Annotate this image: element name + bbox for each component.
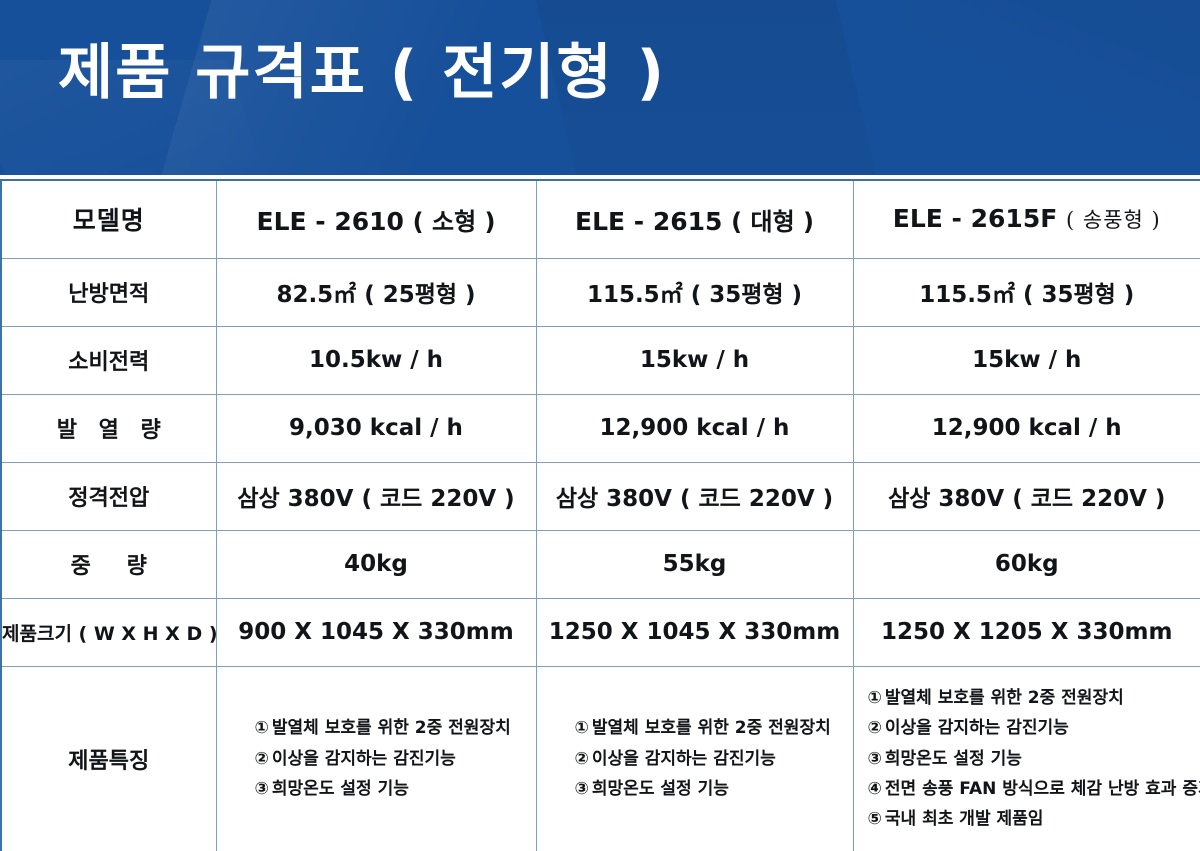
model-suffix-songpunghyeong: ( 송풍형 ) (1066, 208, 1161, 232)
feature-text: 이상을 감지하는 감진기능 (885, 718, 1069, 738)
table-row-weight: 중 량 40kg 55kg 60kg (1, 530, 1200, 598)
cell-rated-voltage-ele-2615: 삼상 380V ( 코드 220V ) (536, 462, 853, 530)
banner-chevron-shade-3 (821, 0, 1200, 175)
feature-number: ① (575, 718, 589, 738)
list-item: ①발열체 보호를 위한 2중 전원장치 (255, 713, 526, 743)
table-header-row: 모델명 ELE - 2610 ( 소형 ) ELE - 2615 ( 대형 ) … (1, 180, 1200, 258)
cell-rated-voltage-ele-2615f: 삼상 380V ( 코드 220V ) (853, 462, 1200, 530)
feature-text: 이상을 감지하는 감진기능 (592, 749, 776, 769)
feature-number: ② (868, 718, 882, 738)
row-label-weight: 중 량 (1, 530, 216, 598)
table-row-heat-output: 발 열 량 9,030 kcal / h 12,900 kcal / h 12,… (1, 394, 1200, 462)
feature-text: 이상을 감지하는 감진기능 (272, 749, 456, 769)
list-item: ③희망온도 설정 기능 (255, 774, 526, 804)
list-item: ⑤국내 최초 개발 제품임 (868, 804, 1191, 834)
feature-list-ele-2615: ①발열체 보호를 위한 2중 전원장치 ②이상을 감지하는 감진기능 ③희망온도… (575, 713, 843, 804)
table-row-features: 제품특징 ①발열체 보호를 위한 2중 전원장치 ②이상을 감지하는 감진기능 … (1, 666, 1200, 851)
row-label-heat-output: 발 열 량 (1, 394, 216, 462)
feature-number: ⑤ (868, 809, 882, 829)
cell-heat-output-ele-2615f: 12,900 kcal / h (853, 394, 1200, 462)
cell-weight-ele-2615f: 60kg (853, 530, 1200, 598)
cell-power-consumption-ele-2615: 15kw / h (536, 326, 853, 394)
list-item: ④전면 송풍 FAN 방식으로 체감 난방 효과 증가 (868, 774, 1191, 804)
cell-heating-area-ele-2610: 82.5㎡ ( 25평형 ) (216, 258, 536, 326)
feature-text: 희망온도 설정 기능 (272, 779, 409, 799)
table-row-power-consumption: 소비전력 10.5kw / h 15kw / h 15kw / h (1, 326, 1200, 394)
title-banner: 제품 규격표 ( 전기형 ) (0, 0, 1200, 175)
list-item: ①발열체 보호를 위한 2중 전원장치 (868, 683, 1191, 713)
page-title: 제품 규격표 ( 전기형 ) (58, 40, 666, 106)
row-label-power-consumption: 소비전력 (1, 326, 216, 394)
model-suffix-daehyeong: ( 대형 ) (731, 208, 814, 236)
model-name-ele-2615f: ELE - 2615F (893, 204, 1058, 233)
cell-heat-output-ele-2610: 9,030 kcal / h (216, 394, 536, 462)
cell-heating-area-ele-2615: 115.5㎡ ( 35평형 ) (536, 258, 853, 326)
list-item: ②이상을 감지하는 감진기능 (575, 744, 843, 774)
product-spec-table: 모델명 ELE - 2610 ( 소형 ) ELE - 2615 ( 대형 ) … (0, 179, 1200, 851)
column-header-ele-2610: ELE - 2610 ( 소형 ) (216, 180, 536, 258)
table-body: 난방면적 82.5㎡ ( 25평형 ) 115.5㎡ ( 35평형 ) 115.… (1, 258, 1200, 851)
list-item: ③희망온도 설정 기능 (575, 774, 843, 804)
cell-features-ele-2610: ①발열체 보호를 위한 2중 전원장치 ②이상을 감지하는 감진기능 ③희망온도… (216, 666, 536, 851)
row-label-rated-voltage: 정격전압 (1, 462, 216, 530)
column-header-ele-2615: ELE - 2615 ( 대형 ) (536, 180, 853, 258)
model-name-ele-2610: ELE - 2610 (257, 207, 404, 236)
list-item: ③희망온도 설정 기능 (868, 744, 1191, 774)
feature-list-ele-2610: ①발열체 보호를 위한 2중 전원장치 ②이상을 감지하는 감진기능 ③희망온도… (255, 713, 526, 804)
table-header: 모델명 ELE - 2610 ( 소형 ) ELE - 2615 ( 대형 ) … (1, 180, 1200, 258)
cell-power-consumption-ele-2615f: 15kw / h (853, 326, 1200, 394)
feature-text: 전면 송풍 FAN 방식으로 체감 난방 효과 증가 (885, 779, 1200, 799)
feature-text: 희망온도 설정 기능 (885, 749, 1022, 769)
cell-weight-ele-2610: 40kg (216, 530, 536, 598)
feature-number: ③ (868, 749, 882, 769)
feature-list-ele-2615f: ①발열체 보호를 위한 2중 전원장치 ②이상을 감지하는 감진기능 ③희망온도… (868, 683, 1191, 834)
column-header-model: 모델명 (1, 180, 216, 258)
table-row-rated-voltage: 정격전압 삼상 380V ( 코드 220V ) 삼상 380V ( 코드 22… (1, 462, 1200, 530)
row-label-heating-area: 난방면적 (1, 258, 216, 326)
list-item: ①발열체 보호를 위한 2중 전원장치 (575, 713, 843, 743)
table-row-heating-area: 난방면적 82.5㎡ ( 25평형 ) 115.5㎡ ( 35평형 ) 115.… (1, 258, 1200, 326)
feature-number: ③ (255, 779, 269, 799)
feature-number: ④ (868, 779, 882, 799)
cell-rated-voltage-ele-2610: 삼상 380V ( 코드 220V ) (216, 462, 536, 530)
list-item: ②이상을 감지하는 감진기능 (255, 744, 526, 774)
cell-heat-output-ele-2615: 12,900 kcal / h (536, 394, 853, 462)
table-row-dimensions: 제품크기 ( W X H X D ) 900 X 1045 X 330mm 12… (1, 598, 1200, 666)
feature-text: 국내 최초 개발 제품임 (885, 809, 1044, 829)
column-header-ele-2615f: ELE - 2615F ( 송풍형 ) (853, 180, 1200, 258)
feature-text: 발열체 보호를 위한 2중 전원장치 (885, 688, 1124, 708)
cell-dimensions-ele-2615f: 1250 X 1205 X 330mm (853, 598, 1200, 666)
cell-power-consumption-ele-2610: 10.5kw / h (216, 326, 536, 394)
feature-text: 발열체 보호를 위한 2중 전원장치 (592, 718, 831, 738)
model-suffix-sohyeong: ( 소형 ) (413, 208, 496, 236)
feature-number: ② (575, 749, 589, 769)
cell-features-ele-2615: ①발열체 보호를 위한 2중 전원장치 ②이상을 감지하는 감진기능 ③희망온도… (536, 666, 853, 851)
feature-text: 발열체 보호를 위한 2중 전원장치 (272, 718, 511, 738)
feature-number: ③ (575, 779, 589, 799)
feature-number: ① (868, 688, 882, 708)
feature-number: ② (255, 749, 269, 769)
model-name-ele-2615: ELE - 2615 (575, 207, 722, 236)
cell-dimensions-ele-2610: 900 X 1045 X 330mm (216, 598, 536, 666)
cell-dimensions-ele-2615: 1250 X 1045 X 330mm (536, 598, 853, 666)
product-spec-page: 제품 규격표 ( 전기형 ) 모델명 ELE - 2610 ( 소형 ) ELE… (0, 0, 1200, 851)
feature-number: ① (255, 718, 269, 738)
cell-heating-area-ele-2615f: 115.5㎡ ( 35평형 ) (853, 258, 1200, 326)
feature-text: 희망온도 설정 기능 (592, 779, 729, 799)
cell-weight-ele-2615: 55kg (536, 530, 853, 598)
row-label-features: 제품특징 (1, 666, 216, 851)
row-label-dimensions: 제품크기 ( W X H X D ) (1, 598, 216, 666)
list-item: ②이상을 감지하는 감진기능 (868, 713, 1191, 743)
cell-features-ele-2615f: ①발열체 보호를 위한 2중 전원장치 ②이상을 감지하는 감진기능 ③희망온도… (853, 666, 1200, 851)
